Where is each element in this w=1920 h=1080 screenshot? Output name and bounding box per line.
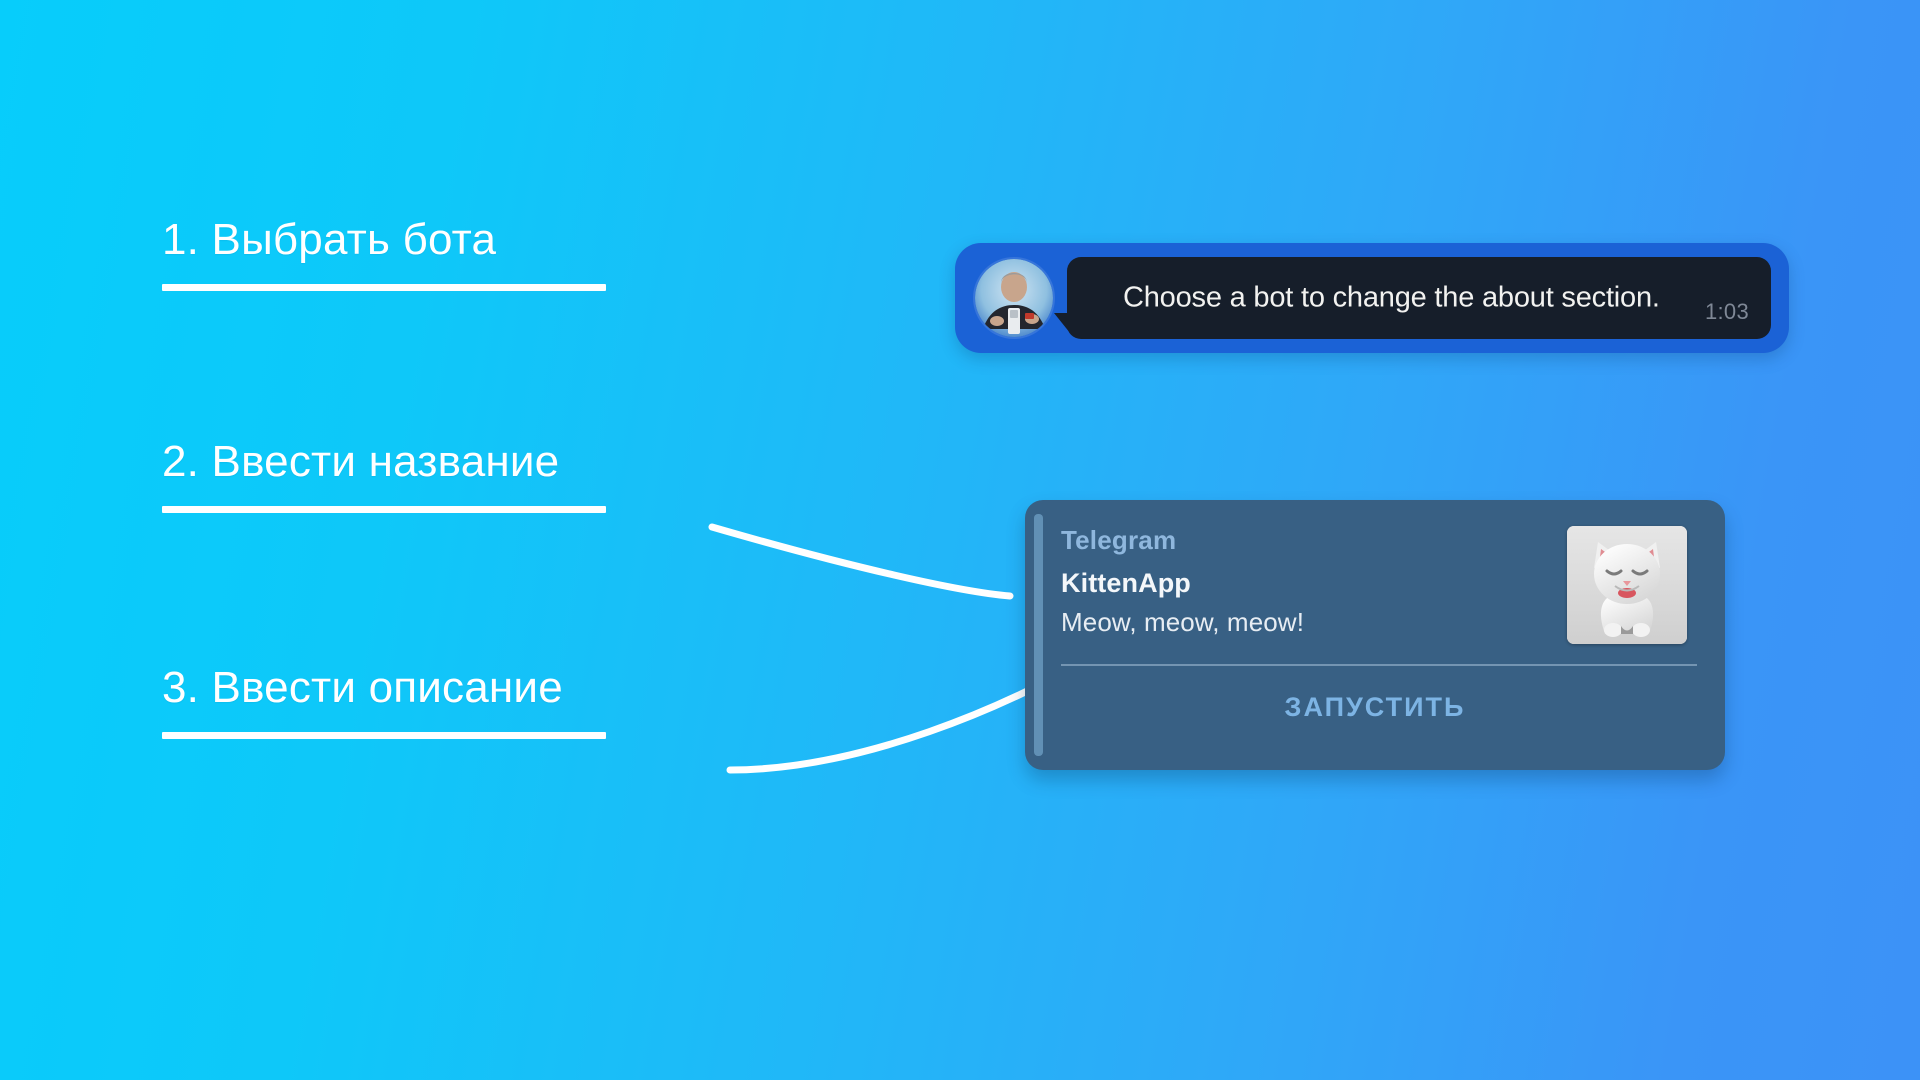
message-bubble: Choose a bot to change the about section… — [1067, 257, 1771, 339]
step-item-3: 3. Ввести описание — [162, 663, 606, 739]
chat-message: Choose a bot to change the about section… — [955, 243, 1789, 353]
card-accent-bar — [1034, 514, 1043, 756]
slide-canvas: 1. Выбрать бота 2. Ввести название 3. Вв… — [0, 0, 1920, 1080]
step-2-label: 2. Ввести название — [162, 437, 606, 488]
step-1-label: 1. Выбрать бота — [162, 215, 606, 266]
avatar-image — [975, 259, 1053, 337]
card-divider — [1061, 664, 1697, 666]
connector-name-curve — [712, 527, 1010, 596]
message-timestamp: 1:03 — [1705, 299, 1749, 325]
step-2-underline — [162, 506, 606, 513]
message-text: Choose a bot to change the about section… — [1123, 282, 1660, 315]
step-3-label: 3. Ввести описание — [162, 663, 606, 714]
step-1-underline — [162, 284, 606, 291]
bot-card[interactable]: Telegram KittenApp Meow, meow, meow! — [1025, 500, 1725, 770]
launch-button[interactable]: ЗАПУСТИТЬ — [1045, 682, 1705, 732]
white-kitten-thumbnail — [1567, 526, 1687, 644]
step-3-underline — [162, 732, 606, 739]
person-avatar — [975, 259, 1053, 337]
kitten-image — [1567, 526, 1687, 644]
step-item-1: 1. Выбрать бота — [162, 215, 606, 291]
step-item-2: 2. Ввести название — [162, 437, 606, 513]
